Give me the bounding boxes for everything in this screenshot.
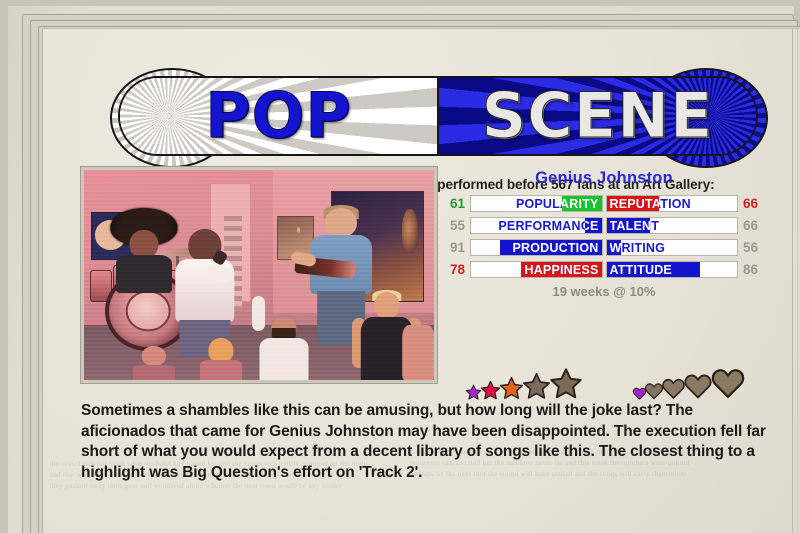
stat-bar-right-label: TALENTTALENT bbox=[607, 218, 738, 233]
page-rule-inner bbox=[792, 29, 793, 533]
star-icon bbox=[499, 376, 524, 401]
stat-row: 78HAPPINESSHAPPINESSATTITUDEATTITUDE86 bbox=[439, 260, 769, 279]
star-icon bbox=[549, 367, 583, 401]
popscene-logo: POP SCENE bbox=[118, 66, 758, 166]
band-name: Genius Johnston bbox=[439, 169, 769, 188]
star-icon bbox=[522, 372, 551, 401]
stat-row: 61POPULARITYPOPULARITYREPUTATIONREPUTATI… bbox=[439, 194, 769, 213]
stat-left-value: 91 bbox=[439, 240, 470, 255]
stat-bar-left: PRODUCTIONPRODUCTION bbox=[470, 239, 603, 256]
stat-bar-right: TALENTTALENT bbox=[606, 217, 739, 234]
stat-rows: 61POPULARITYPOPULARITYREPUTATIONREPUTATI… bbox=[439, 194, 769, 279]
stat-bar-right: REPUTATIONREPUTATION bbox=[606, 195, 739, 212]
gig-photo-frame bbox=[81, 167, 437, 383]
stat-right-value: 56 bbox=[738, 240, 769, 255]
stat-right-value: 86 bbox=[738, 262, 769, 277]
heart-icon bbox=[683, 371, 713, 401]
stat-bar-left: POPULARITYPOPULARITY bbox=[470, 195, 603, 212]
stat-bar-label-overlay: REPUTATION bbox=[610, 197, 659, 211]
magazine-page: the crowd was not quite what the band ha… bbox=[42, 28, 800, 533]
stat-row: 55PERFORMANCEPERFORMANCETALENTTALENT66 bbox=[439, 216, 769, 235]
stat-right-value: 66 bbox=[738, 196, 769, 211]
stat-bar-right: ATTITUDEATTITUDE bbox=[606, 261, 739, 278]
review-text: Sometimes a shambles like this can be am… bbox=[81, 401, 771, 483]
gig-photo bbox=[84, 170, 434, 380]
stat-left-value: 61 bbox=[439, 196, 470, 211]
stat-bar-label-overlay: PRODUCTION bbox=[512, 241, 598, 255]
stat-bar-right-label: REPUTATIONREPUTATION bbox=[607, 196, 738, 211]
logo-banner: POP SCENE bbox=[118, 76, 758, 156]
logo-text-pop: POP bbox=[205, 85, 352, 147]
weeks-label: 19 weeks @ 10% bbox=[439, 284, 769, 299]
rating-icons bbox=[439, 359, 769, 401]
stat-right-value: 66 bbox=[738, 218, 769, 233]
logo-half-left: POP bbox=[120, 78, 439, 154]
star-rating[interactable] bbox=[465, 367, 581, 401]
page-rule-outer bbox=[797, 29, 798, 533]
stat-bar-right-label: ATTITUDEATTITUDE bbox=[607, 262, 738, 277]
logo-half-right: SCENE bbox=[439, 78, 756, 154]
stat-bar-label-overlay: POPULARITY bbox=[562, 197, 598, 211]
stat-bar-label-overlay: ATTITUDE bbox=[610, 263, 672, 277]
stat-bar-right-label: WRITINGWRITING bbox=[607, 240, 738, 255]
logo-text-scene: SCENE bbox=[482, 85, 714, 147]
stat-left-value: 78 bbox=[439, 262, 470, 277]
stat-bar-left-label: PRODUCTIONPRODUCTION bbox=[471, 240, 602, 255]
star-icon bbox=[480, 380, 501, 401]
stat-bar-left-label: PERFORMANCEPERFORMANCE bbox=[471, 218, 602, 233]
heart-rating[interactable] bbox=[632, 365, 743, 401]
band-stats-panel: Genius Johnston 61POPULARITYPOPULARITYRE… bbox=[439, 169, 769, 299]
stat-bar-label-overlay: PERFORMANCE bbox=[585, 219, 599, 233]
stat-bar-left: PERFORMANCEPERFORMANCE bbox=[470, 217, 603, 234]
stat-bar-label-overlay: TALENT bbox=[610, 219, 650, 233]
stat-bar-left: HAPPINESSHAPPINESS bbox=[470, 261, 603, 278]
popscene-magazine-screen: the crowd was not quite what the band ha… bbox=[0, 0, 800, 533]
stat-bar-label-overlay: WRITING bbox=[610, 241, 621, 255]
stat-bar-left-label: POPULARITYPOPULARITY bbox=[471, 196, 602, 211]
stat-row: 91PRODUCTIONPRODUCTIONWRITINGWRITING56 bbox=[439, 238, 769, 257]
stat-bar-left-label: HAPPINESSHAPPINESS bbox=[471, 262, 602, 277]
heart-icon bbox=[710, 365, 746, 401]
page-stack: the crowd was not quite what the band ha… bbox=[8, 6, 794, 533]
photo-posterize-overlay bbox=[84, 170, 434, 380]
stat-bar-label-overlay: HAPPINESS bbox=[524, 263, 598, 277]
stat-left-value: 55 bbox=[439, 218, 470, 233]
stat-bar-right: WRITINGWRITING bbox=[606, 239, 739, 256]
